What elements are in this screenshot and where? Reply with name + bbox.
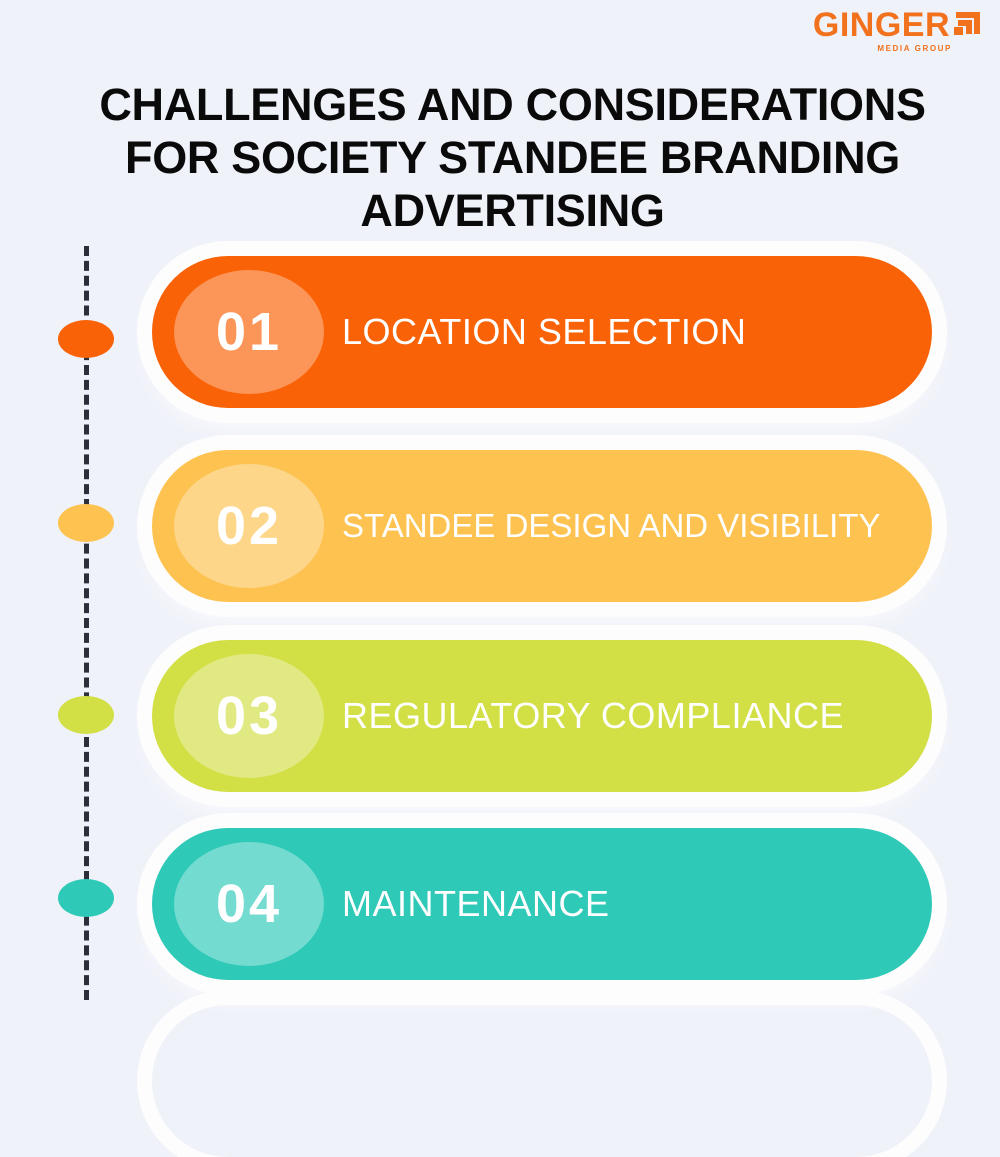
item-number-1: 01 xyxy=(216,301,282,363)
item-number-4: 04 xyxy=(216,873,282,935)
item-label-4: MAINTENANCE xyxy=(342,883,908,925)
timeline-dot-3 xyxy=(58,696,114,734)
next-item-peek xyxy=(152,1005,932,1157)
item-label-3: REGULATORY COMPLIANCE xyxy=(342,695,908,737)
item-label-2: STANDEE DESIGN AND VISIBILITY xyxy=(342,507,908,545)
list-item[interactable]: 01 LOCATION SELECTION xyxy=(152,256,932,408)
item-number-badge-3: 03 xyxy=(174,654,324,778)
timeline-list: 01 LOCATION SELECTION 02 STANDEE DESIGN … xyxy=(0,0,1000,1000)
list-item[interactable]: 04 MAINTENANCE xyxy=(152,828,932,980)
timeline-dot-1 xyxy=(58,320,114,358)
item-pill-2[interactable]: 02 STANDEE DESIGN AND VISIBILITY xyxy=(152,450,932,602)
item-number-2: 02 xyxy=(216,495,282,557)
item-number-badge-2: 02 xyxy=(174,464,324,588)
timeline-dot-4 xyxy=(58,879,114,917)
list-item[interactable]: 03 REGULATORY COMPLIANCE xyxy=(152,640,932,792)
item-number-badge-1: 01 xyxy=(174,270,324,394)
timeline-dot-2 xyxy=(58,504,114,542)
item-number-badge-4: 04 xyxy=(174,842,324,966)
item-pill-4[interactable]: 04 MAINTENANCE xyxy=(152,828,932,980)
list-item[interactable]: 02 STANDEE DESIGN AND VISIBILITY xyxy=(152,450,932,602)
item-label-1: LOCATION SELECTION xyxy=(342,311,908,353)
item-pill-3[interactable]: 03 REGULATORY COMPLIANCE xyxy=(152,640,932,792)
item-number-3: 03 xyxy=(216,685,282,747)
item-pill-1[interactable]: 01 LOCATION SELECTION xyxy=(152,256,932,408)
